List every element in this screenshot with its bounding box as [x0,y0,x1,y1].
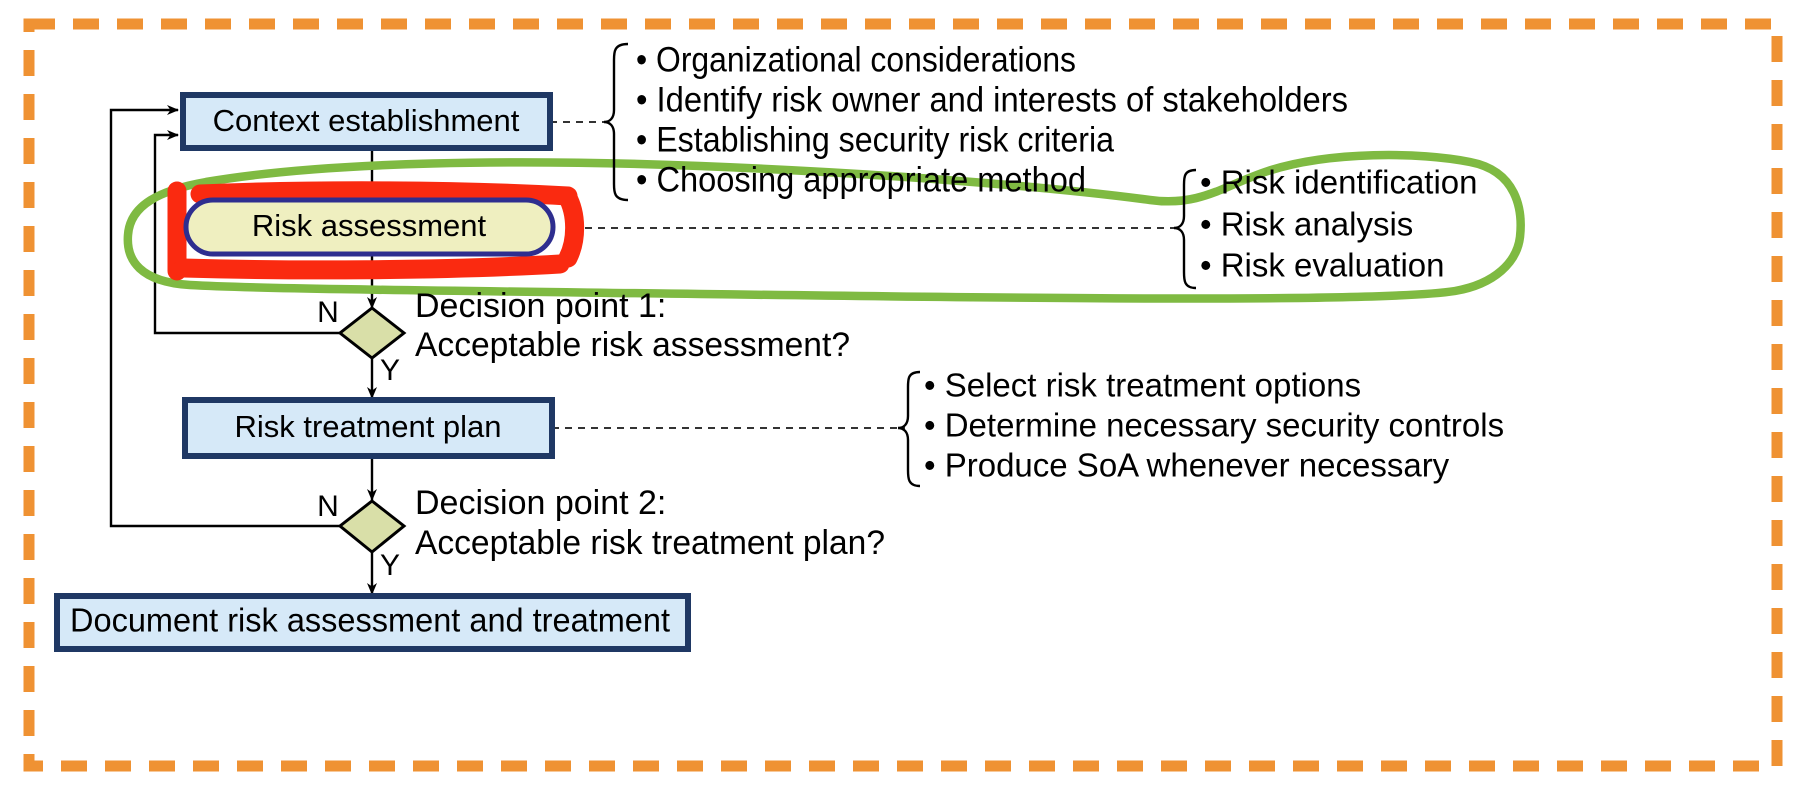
node-document-risk[interactable]: Document risk assessment and treatment [57,596,688,649]
context-establishment-label: Context establishment [213,103,520,138]
context-callout-item-2: • Establishing security risk criteria [636,120,1114,159]
treatment-callout-item-0: • Select risk treatment options [924,367,1361,404]
decision2-question: Acceptable risk treatment plan? [415,524,885,562]
context-callout-item-1: • Identify risk owner and interests of s… [636,80,1348,119]
treatment-callout-item-1: • Determine necessary security controls [924,407,1504,444]
red-highlight-top [200,191,568,196]
decision2-yes-label: Y [380,549,400,582]
decision2-title: Decision point 2: [415,484,666,522]
assessment-callout-item-1: • Risk analysis [1200,206,1413,243]
diagram-canvas: Context establishment Risk assessment N … [0,0,1804,802]
node-risk-treatment-plan[interactable]: Risk treatment plan [185,400,552,456]
node-risk-assessment[interactable]: Risk assessment [186,200,553,254]
brace-assessment-callout [1174,170,1196,288]
treatment-callout-item-2: • Produce SoA whenever necessary [924,447,1450,484]
decision2-diamond[interactable] [340,501,404,552]
risk-treatment-plan-label: Risk treatment plan [234,409,501,444]
decision1-diamond[interactable] [340,308,404,358]
assessment-callout-list: • Risk identification • Risk analysis • … [1200,164,1478,284]
red-highlight-bottom [183,264,560,270]
node-decision-point-2[interactable]: N Y Decision point 2: Acceptable risk tr… [317,484,885,582]
decision1-yes-label: Y [380,354,400,387]
decision2-no-label: N [317,490,339,523]
brace-treatment-callout [898,372,920,486]
brace-context-callout [604,44,628,200]
risk-management-flowchart: Context establishment Risk assessment N … [0,0,1804,802]
node-decision-point-1[interactable]: N Y Decision point 1: Acceptable risk as… [317,287,850,387]
red-highlight-right [567,196,575,258]
risk-assessment-label: Risk assessment [252,208,487,243]
assessment-callout-item-2: • Risk evaluation [1200,247,1445,284]
node-context-establishment[interactable]: Context establishment [183,95,550,148]
document-risk-label: Document risk assessment and treatment [70,602,670,639]
treatment-callout-list: • Select risk treatment options • Determ… [924,367,1504,484]
decision1-no-label: N [317,296,339,329]
context-callout-item-3: • Choosing appropriate method [636,160,1086,199]
context-callout-item-0: • Organizational considerations [636,40,1076,79]
decision1-question: Acceptable risk assessment? [415,326,850,364]
assessment-callout-item-0: • Risk identification [1200,164,1478,201]
decision1-title: Decision point 1: [415,287,666,325]
